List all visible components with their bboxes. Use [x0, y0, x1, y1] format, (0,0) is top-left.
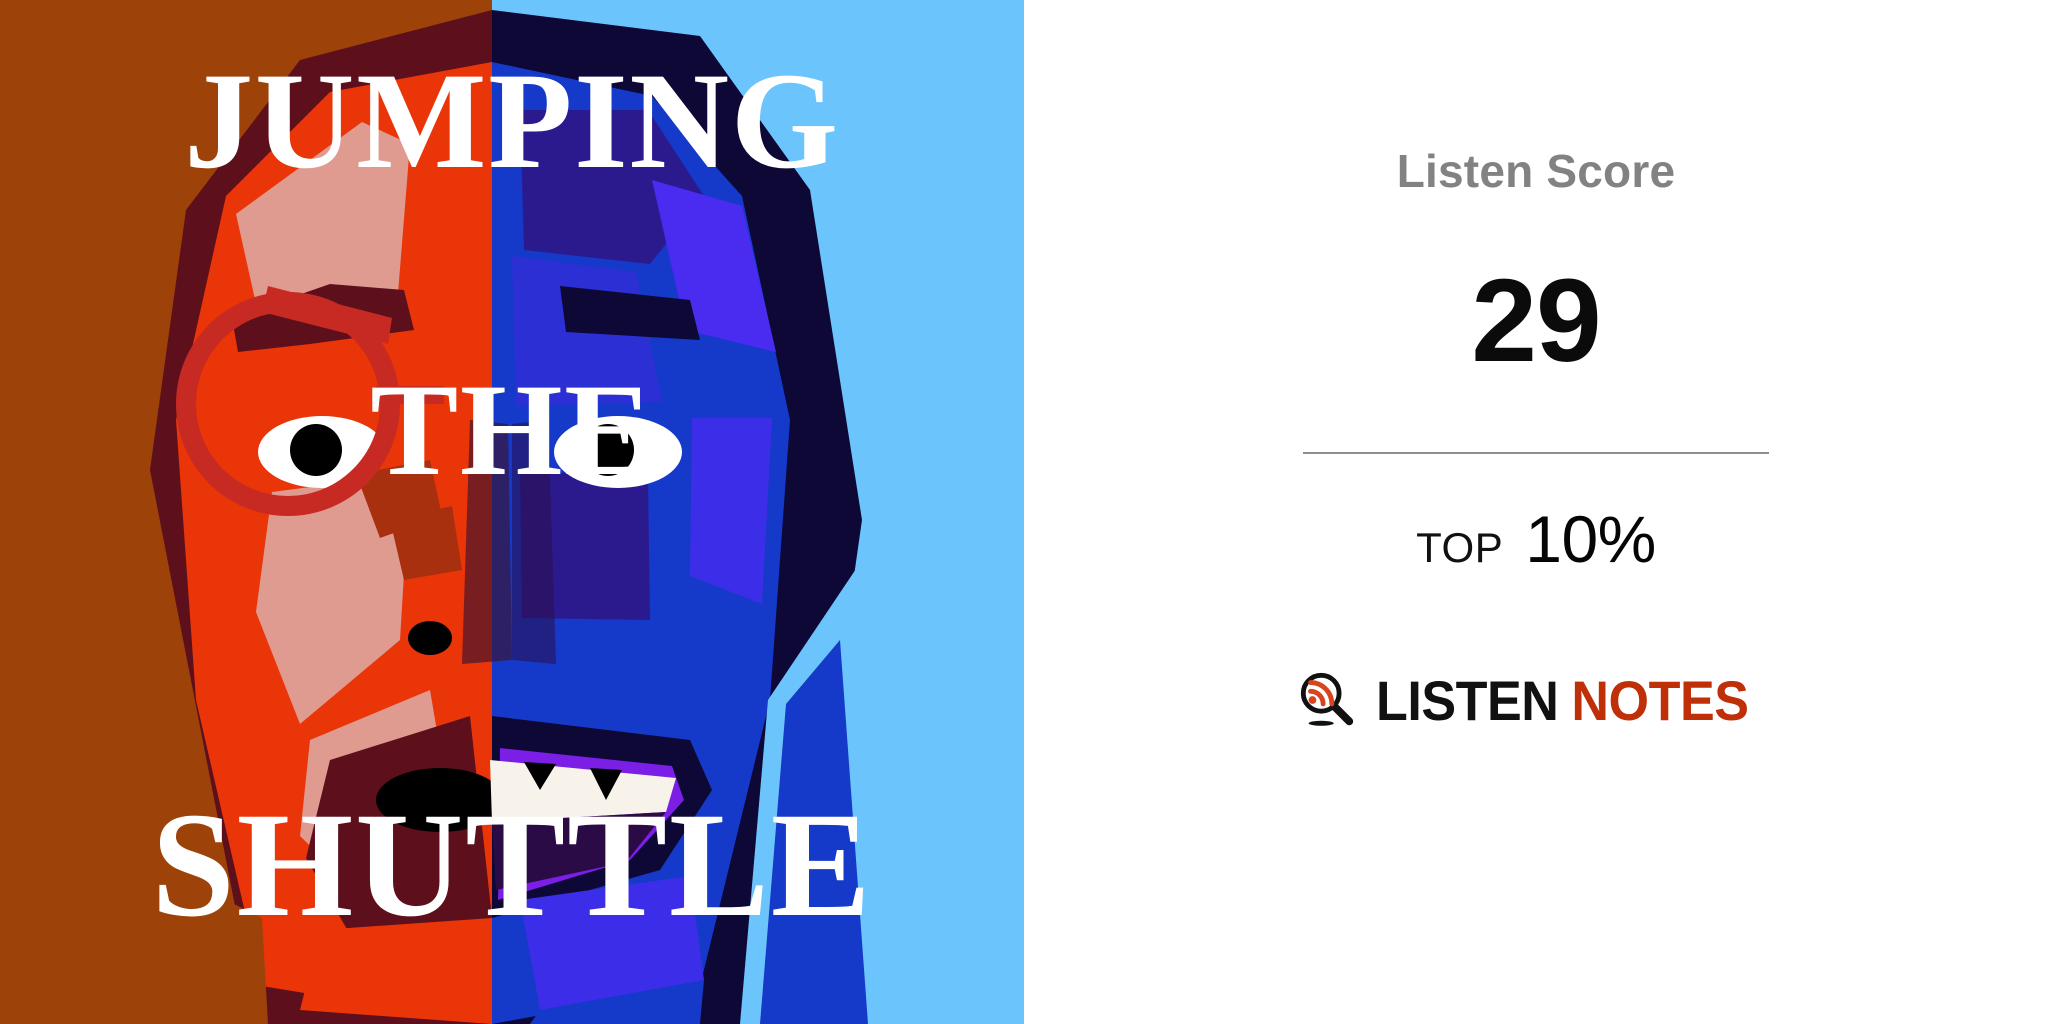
rank-label: TOP	[1416, 527, 1503, 569]
listen-score-panel: Listen Score 29 TOP 10%	[1024, 0, 2048, 1024]
listen-notes-brand[interactable]: LISTENNOTES	[1296, 670, 1777, 732]
listen-score-heading: Listen Score	[1397, 148, 1676, 194]
listen-score-value: 29	[1471, 262, 1600, 380]
rank-percent-value: 10%	[1525, 506, 1656, 572]
score-divider	[1303, 452, 1769, 454]
brand-word-notes: NOTES	[1571, 669, 1748, 732]
brand-word-listen: LISTEN	[1376, 669, 1558, 732]
rank-row: TOP 10%	[1416, 506, 1656, 572]
listen-notes-magnifier-rss-icon	[1296, 670, 1358, 732]
cover-art-illustration	[0, 0, 1024, 1024]
listen-score-card: JUMPING THE SHUTTLE Listen Score 29 TOP …	[0, 0, 2048, 1024]
listen-notes-wordmark: LISTENNOTES	[1376, 673, 1749, 729]
podcast-cover-art[interactable]: JUMPING THE SHUTTLE	[0, 0, 1024, 1024]
